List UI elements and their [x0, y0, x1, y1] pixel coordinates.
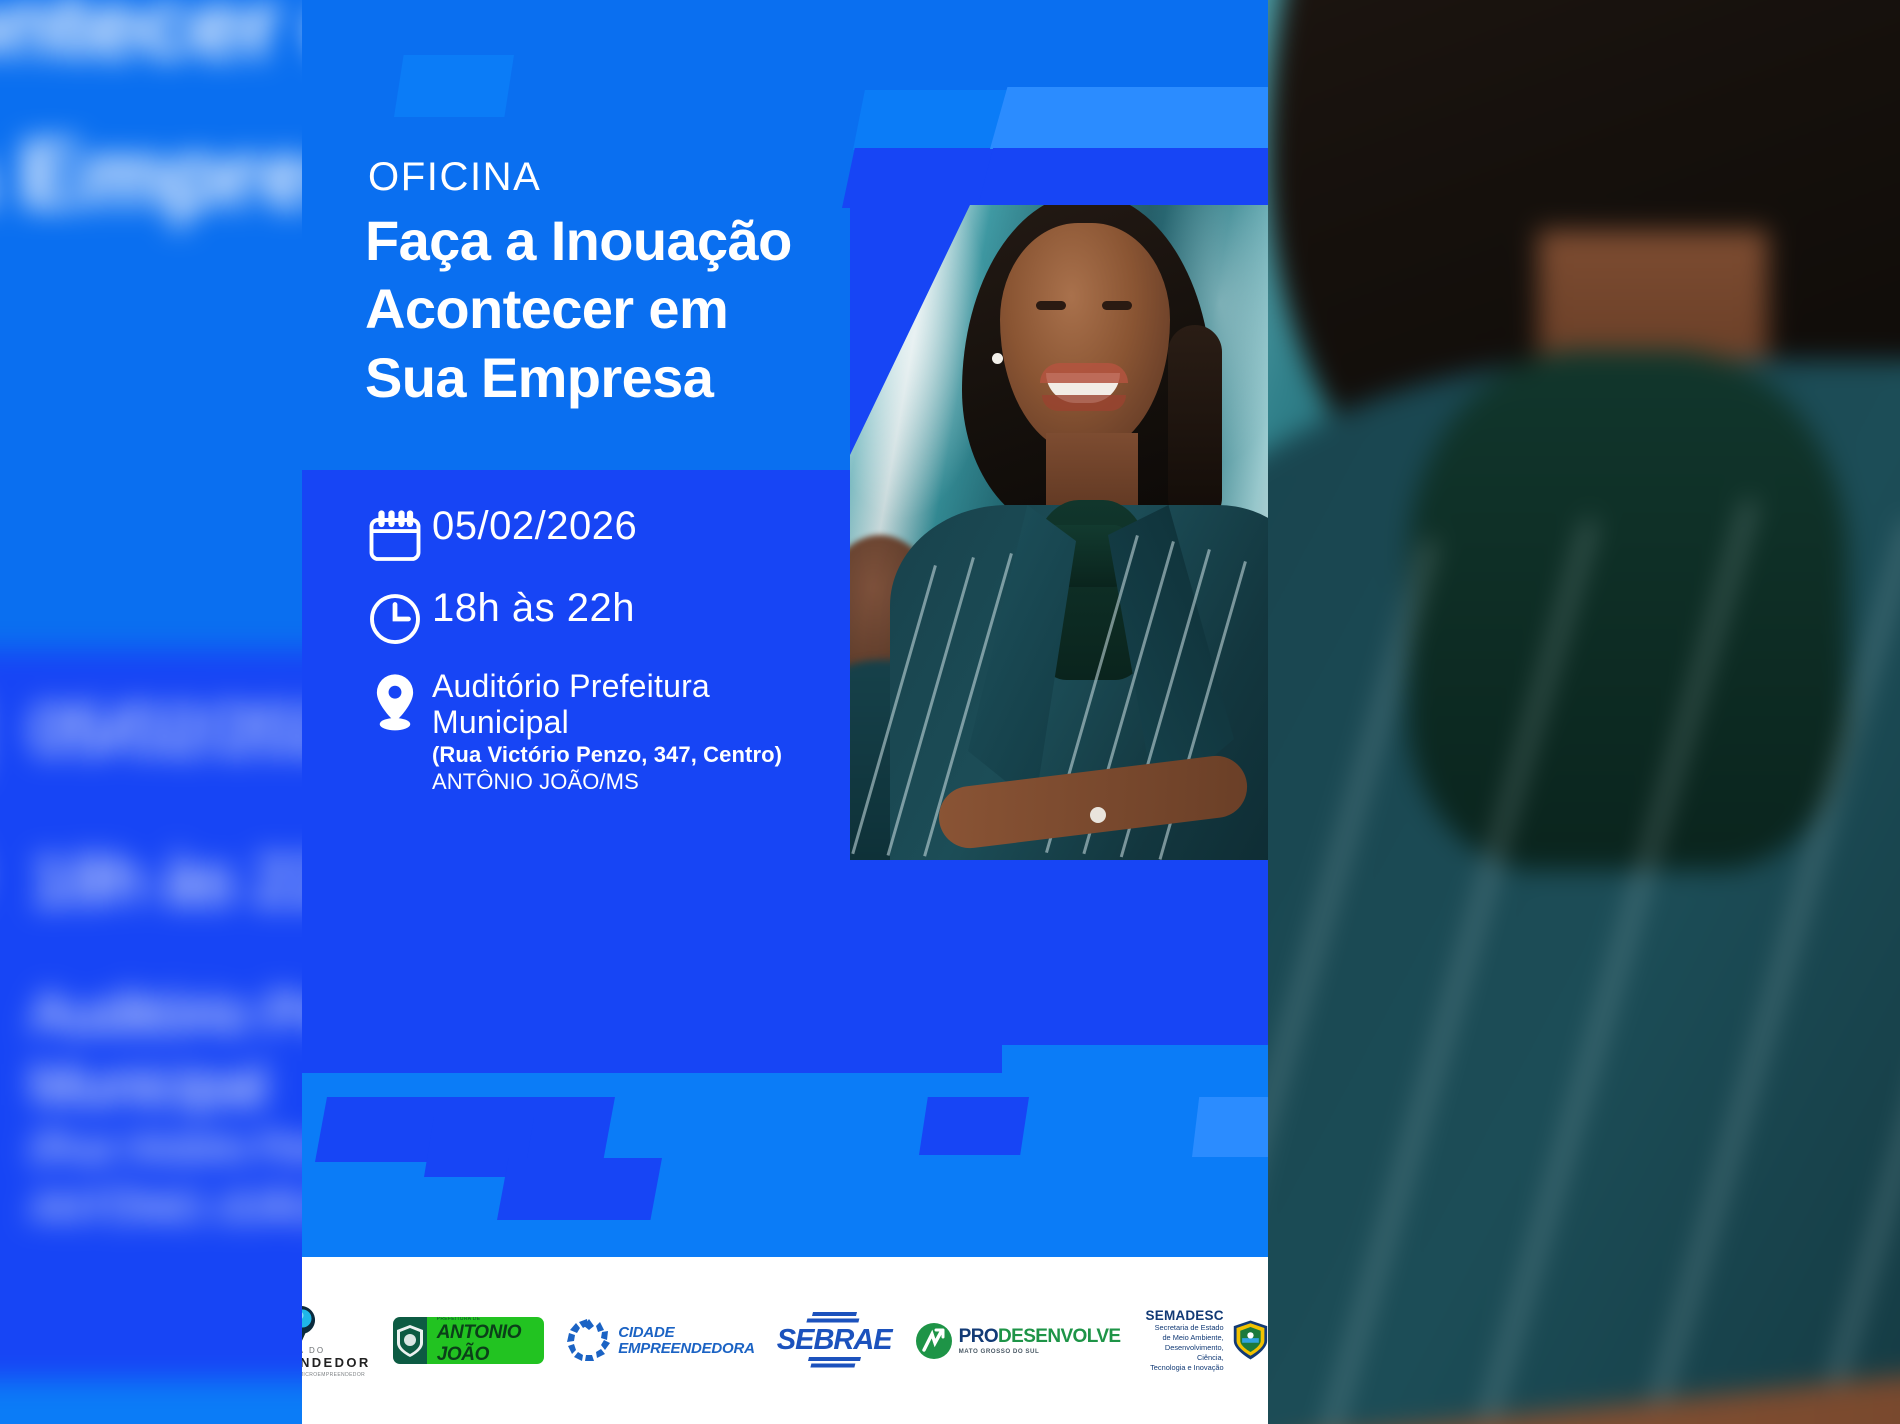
backdrop-address: (Rua Victório Penzo, 347, Centro) [30, 1126, 302, 1171]
backdrop-right-strip [1268, 0, 1900, 1424]
backdrop-title-line-3: Sua Empresa [0, 120, 302, 230]
venue-address: (Rua Victório Penzo, 347, Centro) [432, 741, 782, 769]
logo-prefeitura-antonio-joao: PREFEITURA DE ANTONIO JOÃO [393, 1317, 544, 1364]
semadesc-sub-4: Tecnologia e Inovação [1142, 1363, 1223, 1373]
title-line-3: Sua Empresa [365, 344, 792, 412]
backdrop-venue-2: Municipal [30, 1052, 266, 1119]
venue-line-2: Municipal [432, 705, 782, 741]
map-pin-icon [358, 669, 432, 733]
sponsor-logo-bar: SALA DO EMPREENDEDOR SEBRAE/SE APOIO AO … [302, 1257, 1268, 1424]
venue-city: ANTÔNIO JOÃO/MS [432, 768, 782, 796]
sala-line-2: EMPREENDEDOR [302, 1355, 371, 1370]
semadesc-sub-3: Desenvolvimento, Ciência, [1142, 1343, 1223, 1363]
event-venue-block: Auditório Prefeitura Municipal (Rua Vict… [432, 669, 782, 796]
event-date: 05/02/2026 [432, 505, 637, 547]
title-line-1: Faça a Inouação [365, 207, 792, 275]
logo-cidade-empreendedora: CIDADE EMPREENDEDORA [566, 1318, 755, 1364]
decor-step-deep-2 [978, 148, 1268, 206]
decor-bottom-light-1 [1192, 1097, 1268, 1157]
detail-row-date: 05/02/2026 [358, 505, 878, 567]
backdrop-title-line-2: Acontecer em [0, 0, 302, 80]
poster-viewer: Faça a Inouação Acontecer em Sua Empresa… [0, 0, 1900, 1424]
clock-icon [358, 587, 432, 649]
decor-bottom-deep-1 [302, 1045, 1002, 1073]
sala-line-1: SALA DO [302, 1346, 325, 1355]
cidade-empreendedora-text: CIDADE EMPREENDEDORA [618, 1325, 755, 1356]
semadesc-text: SEMADESC Secretaria de Estado de Meio Am… [1142, 1308, 1223, 1373]
cidade-line-2: EMPREENDEDORA [618, 1341, 755, 1357]
detail-row-venue: Auditório Prefeitura Municipal (Rua Vict… [358, 669, 878, 796]
prodesenvolve-wordmark: PRODESENVOLVE MATO GROSSO DO SUL [959, 1326, 1121, 1355]
logo-sala-do-empreendedor: SALA DO EMPREENDEDOR SEBRAE/SE APOIO AO … [302, 1303, 371, 1378]
backdrop-city: ANTÔNIO JOÃO/MS [30, 1186, 302, 1231]
poster-card: OFICINA Faça a Inouação Acontecer em Sua… [302, 0, 1268, 1424]
backdrop-venue-1: Auditório Prefeitura [30, 980, 302, 1047]
backdrop-time: 18h às 22h [30, 840, 302, 920]
semadesc-sub-2: de Meio Ambiente, [1142, 1333, 1223, 1343]
backdrop-photo [1268, 0, 1900, 1424]
calendar-icon [358, 505, 432, 567]
venue-line-1: Auditório Prefeitura [432, 669, 782, 705]
decor-bottom-deep-4 [497, 1158, 662, 1220]
backdrop-date: 05/02/2026 [30, 690, 302, 770]
sebrae-bars-bottom-icon [795, 1357, 873, 1369]
page-title: Faça a Inouação Acontecer em Sua Empresa [365, 207, 792, 412]
backdrop-left-strip: Faça a Inouação Acontecer em Sua Empresa… [0, 0, 302, 1424]
logo-sebrae: SEBRAE [777, 1312, 892, 1369]
event-time: 18h às 22h [432, 587, 635, 629]
decor-parallelogram-top [394, 55, 514, 117]
prodesenvolve-circle-icon [914, 1321, 954, 1361]
event-details: 05/02/2026 18h às 22h [358, 505, 878, 816]
sebrae-wordmark: SEBRAE [777, 1324, 892, 1357]
antonio-joao-big: ANTONIO JOÃO [437, 1322, 534, 1365]
kicker-label: OFICINA [368, 155, 541, 200]
decor-bottom-deep-5 [919, 1097, 1029, 1155]
detail-row-time: 18h às 22h [358, 587, 878, 649]
cidade-line-1: CIDADE [618, 1325, 755, 1341]
logo-prodesenvolve: PRODESENVOLVE MATO GROSSO DO SUL [914, 1321, 1121, 1361]
sala-drop-icon [302, 1303, 322, 1345]
sala-line-3: SEBRAE/SE APOIO AO MICROEMPREENDEDOR [302, 1372, 365, 1378]
logo-semadesc-governo-ms: SEMADESC Secretaria de Estado de Meio Am… [1142, 1308, 1268, 1373]
coat-of-arms-icon [393, 1317, 427, 1364]
title-line-2: Acontecer em [365, 275, 792, 343]
prodesenvolve-pro: PRO [959, 1326, 998, 1347]
prodesenvolve-sub: MATO GROSSO DO SUL [959, 1348, 1121, 1355]
ms-state-crest-icon [1231, 1317, 1268, 1363]
cidade-burst-icon [566, 1318, 612, 1364]
prodesenvolve-desenvolve: DESENVOLVE [998, 1326, 1120, 1347]
semadesc-sub-1: Secretaria de Estado [1142, 1323, 1223, 1333]
semadesc-title: SEMADESC [1142, 1308, 1223, 1323]
decor-step-light-2 [990, 87, 1268, 149]
sebrae-bars-top-icon [795, 1312, 873, 1324]
